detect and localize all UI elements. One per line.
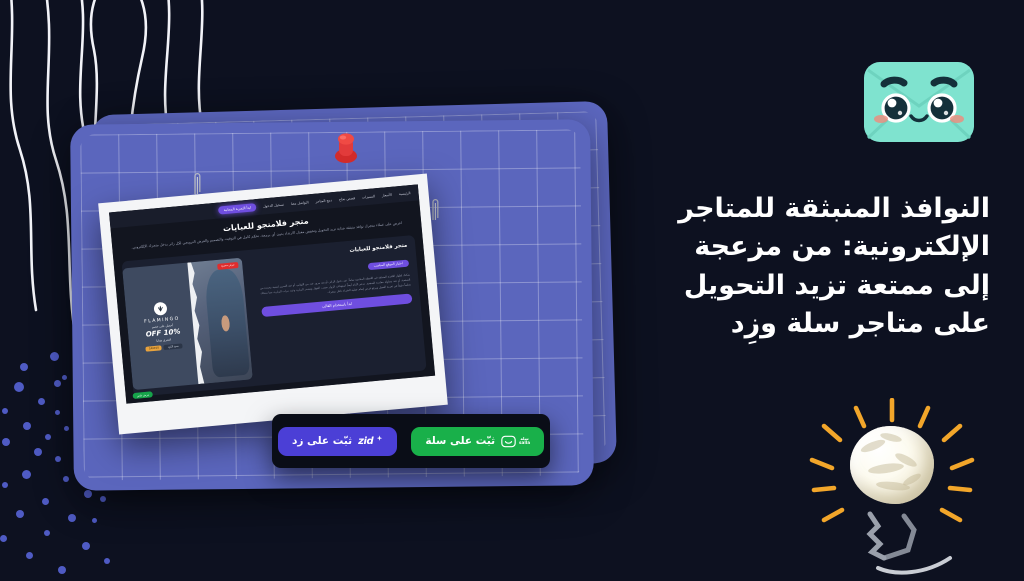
mock-popup-card: متجر فلامنجو للعبايات اختيار الموقع المن… <box>122 235 427 397</box>
push-pin-icon <box>330 126 362 164</box>
install-zid-button[interactable]: ثبّت على زد zid <box>278 427 397 456</box>
bulb-filament-icon <box>870 514 950 573</box>
install-salla-label: ثبّت على سلة <box>425 435 495 447</box>
zid-logo-icon: zid <box>358 435 383 448</box>
nav-item-3[interactable]: قصص نجاح <box>339 196 355 201</box>
zid-wordmark: zid <box>358 436 373 447</box>
headline-line-1: النوافذ المنبثقة للمتاجر <box>560 190 990 228</box>
salla-logo-icon: سلة salla <box>501 435 530 448</box>
nav-item-0[interactable]: الرئيسية <box>399 191 411 196</box>
flamingo-logo-icon <box>154 302 168 316</box>
promo-line-bottom: اشتري هدايا <box>156 337 171 342</box>
headline-line-4: على متاجر سلة وزِد <box>560 305 990 343</box>
nav-item-2[interactable]: المميزات <box>362 194 375 199</box>
nav-item-5[interactable]: التواصل معنا <box>291 200 309 206</box>
nav-item-4[interactable]: دمج المتاجر <box>315 198 332 203</box>
mock-floating-badge[interactable]: عرض خاص <box>133 391 154 399</box>
nav-item-1[interactable]: الأسعار <box>382 193 392 198</box>
poster-canvas: الرئيسية الأسعار المميزات قصص نجاح دمج ا… <box>0 0 1024 581</box>
install-button-bar: ثبّت على زد zid ثبّت على سلة سلة salla <box>272 414 550 468</box>
headline-line-2: الإلكترونية: من مزعجة <box>560 228 990 266</box>
site-screenshot: الرئيسية الأسعار المميزات قصص نجاح دمج ا… <box>109 184 435 403</box>
paper-clip-left-icon <box>192 170 202 196</box>
mock-promo-banner: FLAMINGO أحصل على خصم 10% OFF اشتري هداي… <box>122 258 253 390</box>
crumpled-paper-ball <box>850 426 934 504</box>
promo-discount: 10% OFF <box>145 328 180 339</box>
headline-line-3: إلى ممتعة تزيد التحويل <box>560 267 990 305</box>
polaroid-photo-frame: الرئيسية الأسعار المميزات قصص نجاح دمج ا… <box>98 174 448 435</box>
promo-code: SAVE10 <box>146 345 162 351</box>
install-salla-button[interactable]: ثبّت على سلة سلة salla <box>411 427 544 456</box>
nav-cta-button[interactable]: ابدأ التجربة المجانية <box>218 203 256 214</box>
mock-card-title: متجر فلامنجو للعبايات <box>257 243 407 263</box>
nav-item-6[interactable]: تسجيل الدخول <box>263 203 284 209</box>
page-headline: النوافذ المنبثقة للمتاجر الإلكترونية: من… <box>560 190 990 343</box>
popup-mascot-icon <box>858 56 980 148</box>
idea-lightbulb <box>800 398 985 581</box>
paper-clip-right-icon <box>430 196 440 222</box>
salla-wordmark-en: salla <box>519 440 530 445</box>
install-zid-label: ثبّت على زد <box>292 435 352 447</box>
promo-copy-button[interactable]: نسخ الكود <box>164 343 183 350</box>
mock-card-chip[interactable]: اختيار الموقع المناسب <box>367 259 409 270</box>
